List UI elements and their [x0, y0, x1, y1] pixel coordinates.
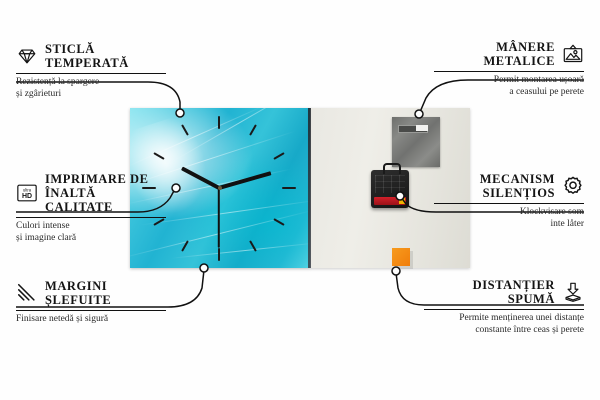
- feature-title: IMPRIMARE DE ÎNALTĂ CALITATE: [45, 172, 166, 214]
- feature-title: DISTANȚIER SPUMĂ: [473, 278, 555, 306]
- clock-tick: [273, 152, 284, 160]
- foam-spacer: [392, 248, 410, 266]
- panel-seam: [308, 108, 311, 268]
- battery: [374, 197, 406, 205]
- diamond-icon: [16, 45, 38, 67]
- feature-foam-spacer: DISTANȚIER SPUMĂ Permite menținerea unei…: [424, 278, 584, 336]
- clock-tick: [249, 240, 257, 251]
- hanger-slot: [398, 125, 428, 133]
- feature-subtitle: Culori intense și imagine clară: [16, 221, 166, 244]
- feature-header: DISTANȚIER SPUMĂ: [424, 278, 584, 306]
- feature-rule: [16, 73, 166, 74]
- feature-tempered-glass: STICLĂ TEMPERATĂ Rezistență la spargere …: [16, 42, 166, 100]
- mechanism-hook: [383, 163, 401, 174]
- feature-header: STICLĂ TEMPERATĂ: [16, 42, 166, 70]
- diagonal-lines-icon: [16, 282, 38, 304]
- feature-subtitle: Permite menținerea unei distanțe constan…: [424, 313, 584, 336]
- feature-rule: [424, 309, 584, 310]
- gear-icon: [562, 175, 584, 197]
- feature-subtitle: Finisare netedă și sigură: [16, 314, 166, 326]
- feature-rule: [16, 217, 166, 218]
- svg-text:HD: HD: [22, 193, 32, 200]
- metal-hanger-plate: [392, 117, 440, 167]
- clock-mechanism: [371, 170, 409, 208]
- minute-hand: [218, 171, 271, 190]
- feature-header: ultra HD IMPRIMARE DE ÎNALTĂ CALITATE: [16, 172, 166, 214]
- infographic-canvas: STICLĂ TEMPERATĂ Rezistență la spargere …: [0, 0, 600, 400]
- clock-hub: [218, 186, 222, 190]
- press-down-icon: [562, 281, 584, 303]
- feature-title: MECANISM SILENȚIOS: [480, 172, 555, 200]
- feature-metal-handles: MÂNERE METALICE Permit montarea ușoară a…: [434, 40, 584, 98]
- hanging-frame-icon: [562, 43, 584, 65]
- feature-high-quality-print: ultra HD IMPRIMARE DE ÎNALTĂ CALITATE Cu…: [16, 172, 166, 244]
- feature-subtitle: Klockvisare som inte låter: [434, 207, 584, 230]
- clock-tick: [181, 124, 189, 135]
- clock-tick: [181, 240, 189, 251]
- feature-subtitle: Permit montarea ușoară a ceasului pe per…: [434, 75, 584, 98]
- clock-tick: [249, 124, 257, 135]
- svg-text:ultra: ultra: [23, 188, 32, 193]
- clock-tick: [273, 218, 284, 226]
- second-hand: [218, 188, 220, 248]
- feature-header: MECANISM SILENȚIOS: [434, 172, 584, 200]
- mechanism-detail: [375, 175, 405, 193]
- hour-hand: [181, 167, 220, 190]
- feature-subtitle: Rezistență la spargere și zgârieturi: [16, 77, 166, 100]
- ultra-hd-icon: ultra HD: [16, 182, 38, 204]
- clock-tick: [282, 187, 296, 189]
- feature-header: MARGINI ȘLEFUITE: [16, 279, 166, 307]
- feature-rule: [434, 71, 584, 72]
- feature-title: MARGINI ȘLEFUITE: [45, 279, 111, 307]
- clock-tick: [218, 248, 220, 261]
- clock-tick: [153, 152, 164, 160]
- feature-rule: [16, 310, 166, 311]
- feature-polished-edges: MARGINI ȘLEFUITE Finisare netedă și sigu…: [16, 279, 166, 326]
- feature-header: MÂNERE METALICE: [434, 40, 584, 68]
- feature-rule: [434, 203, 584, 204]
- clock-tick: [218, 116, 220, 129]
- feature-title: STICLĂ TEMPERATĂ: [45, 42, 129, 70]
- feature-silent-mechanism: MECANISM SILENȚIOS Klockvisare som inte …: [434, 172, 584, 230]
- feature-title: MÂNERE METALICE: [483, 40, 555, 68]
